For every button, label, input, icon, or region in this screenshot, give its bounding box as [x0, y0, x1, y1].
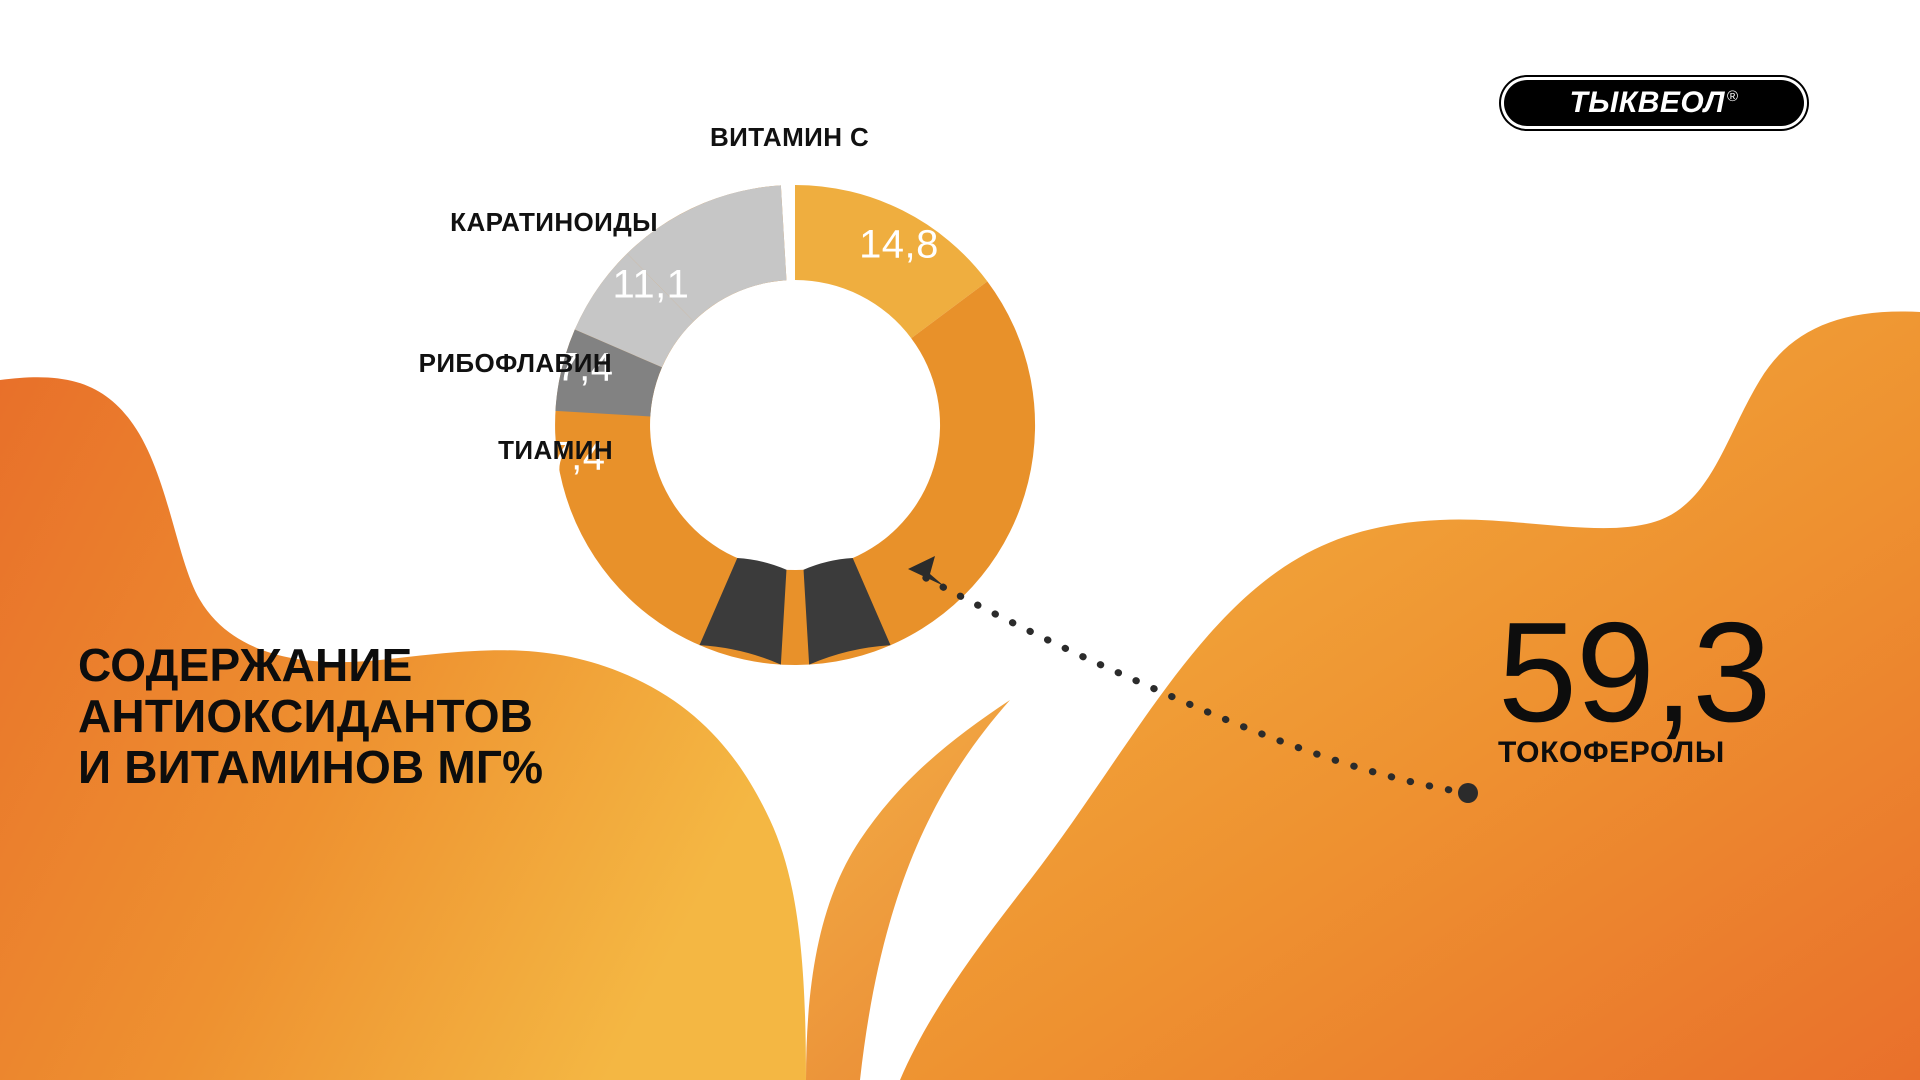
infographic-canvas: ТЫКВЕОЛ® 14,8 — [0, 0, 1920, 1080]
page-title: СОДЕРЖАНИЕ АНТИОКСИДАНТОВ И ВИТАМИНОВ МГ… — [78, 640, 543, 793]
chart-label-thiamin: ТИАМИН — [498, 435, 613, 466]
brand-name: ТЫКВЕОЛ — [1569, 86, 1725, 119]
donut-chart: 14,8 11,1 7,4 7,4 — [545, 175, 1045, 675]
value-carotenoids: 11,1 — [613, 263, 690, 307]
callout-value: 59,3 — [1498, 612, 1770, 734]
donut-chart-svg: 14,8 11,1 7,4 7,4 — [545, 175, 1045, 675]
value-vitamin-c: 14,8 — [859, 223, 939, 267]
registered-trademark-icon: ® — [1727, 88, 1739, 105]
tocopherols-callout: 59,3 ТОКОФЕРОЛЫ — [1498, 612, 1770, 770]
brand-logo: ТЫКВЕОЛ® — [1504, 80, 1804, 126]
chart-label-vitamin-c: ВИТАМИН С — [710, 122, 869, 153]
brand-logo-text: ТЫКВЕОЛ® — [1569, 88, 1738, 118]
chart-label-riboflavin: РИБОФЛАВИН — [419, 348, 612, 379]
chart-label-carotenoids: КАРАТИНОИДЫ — [450, 207, 658, 238]
